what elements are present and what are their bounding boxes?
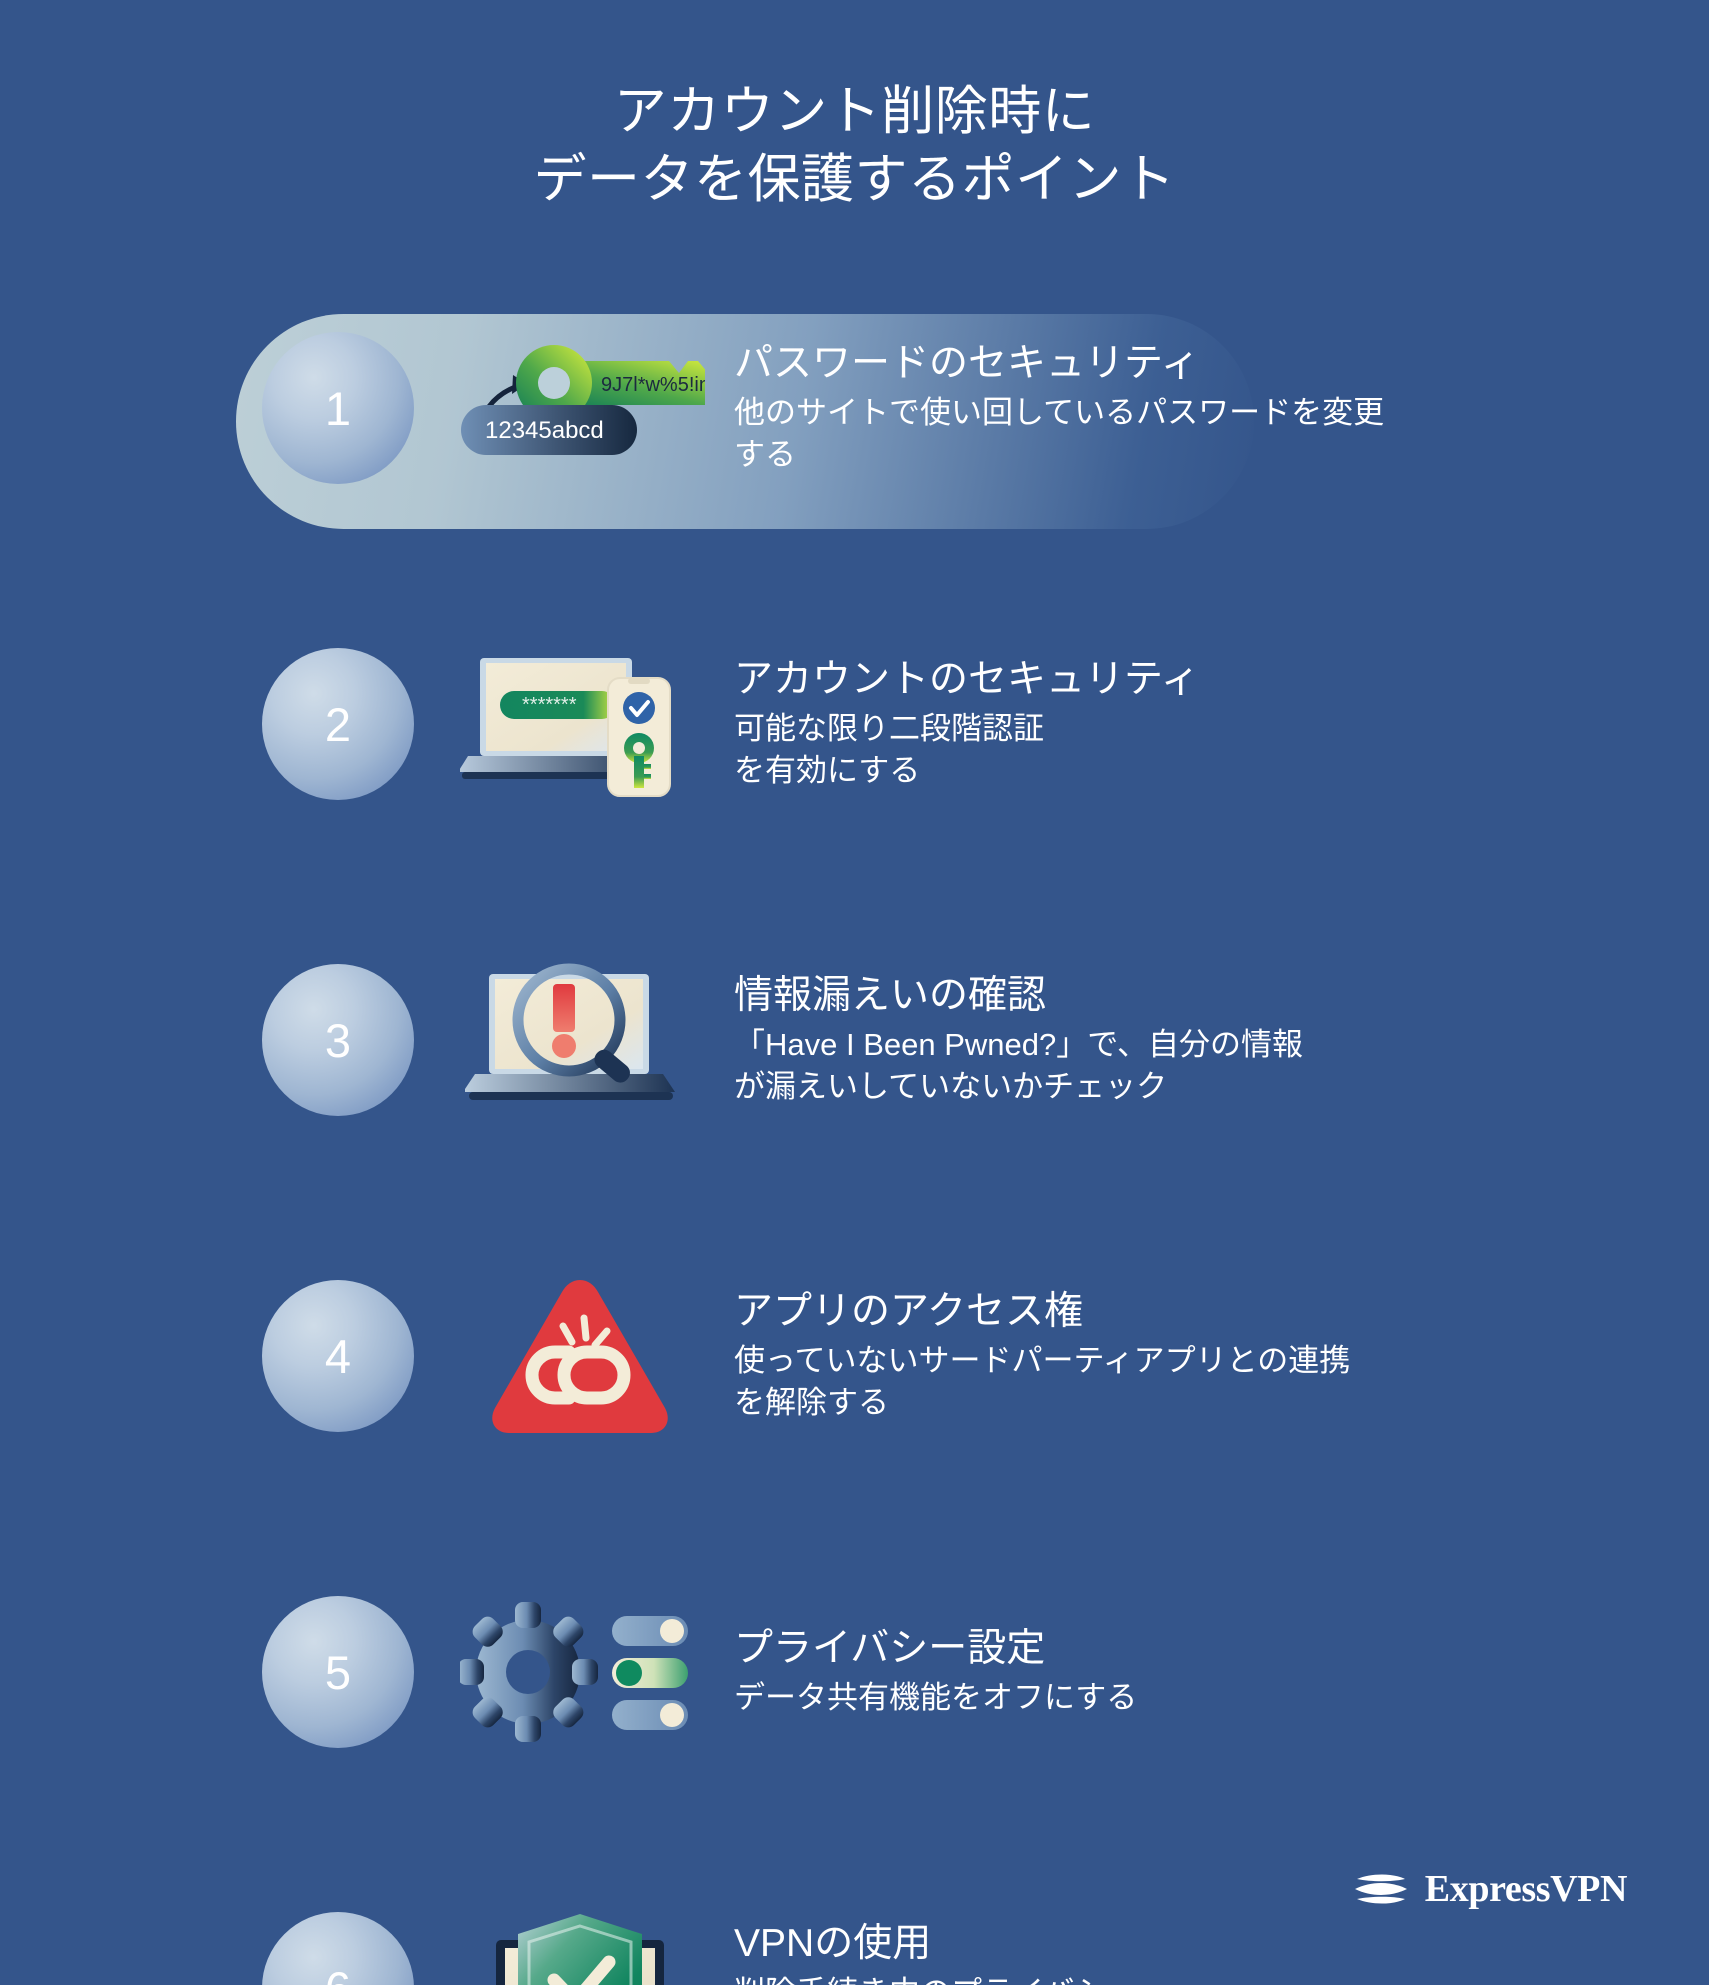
list-item: 1 [0, 300, 1709, 516]
list-item: 5 [0, 1564, 1709, 1780]
step-number-badge: 4 [262, 1280, 414, 1432]
list-item-text: アカウントのセキュリティ 可能な限り二段階認証 を有効にする [720, 656, 1709, 792]
key-password-icon: 9J7l*w%5!inQ 12345abcd [440, 308, 720, 508]
list-item-title: パスワードのセキュリティ [734, 340, 1669, 388]
step-number-badge: 3 [262, 964, 414, 1116]
step-number-badge: 5 [262, 1596, 414, 1748]
list-item-text: パスワードのセキュリティ 他のサイトで使い回しているパスワードを変更 する [720, 340, 1709, 476]
list-item-description: 削除手続き中のプライバシ ーを保護する [734, 1972, 1604, 1985]
vpn-shield-icon [440, 1888, 720, 1985]
list-item-description: 可能な限り二段階認証 を有効にする [734, 708, 1604, 792]
list-item: 3 [0, 932, 1709, 1148]
list-item: 2 [0, 616, 1709, 832]
page-title: アカウント削除時に データを保護するポイント [0, 78, 1709, 214]
step-number-badge: 2 [262, 648, 414, 800]
list-item-description: 使っていないサードパーティアプリとの連携 を解除する [734, 1340, 1604, 1424]
list-item-title: アカウントのセキュリティ [734, 656, 1669, 704]
masked-password-label: ******* [522, 694, 577, 716]
expressvpn-logo-icon [1349, 1865, 1411, 1913]
list-item-description: 「Have I Been Pwned?」で、自分の情報 が漏えいしていないかチェ… [734, 1024, 1604, 1108]
list-item-text: プライバシー設定 データ共有機能をオフにする [720, 1625, 1709, 1719]
step-number-badge: 1 [262, 332, 414, 484]
toggle-off-top [612, 1616, 688, 1646]
weak-password-label: 12345abcd [485, 417, 604, 444]
list-item-text: VPNの使用 削除手続き中のプライバシ ーを保護する [720, 1920, 1709, 1985]
breach-search-icon [440, 940, 720, 1140]
list-item-title: プライバシー設定 [734, 1625, 1669, 1673]
list-item-description: 他のサイトで使い回しているパスワードを変更 する [734, 392, 1604, 476]
strong-password-label: 9J7l*w%5!inQ [601, 374, 705, 396]
list-item-title: 情報漏えいの確認 [734, 972, 1669, 1020]
list-item: 4 アプリのアクセス権 使っていないサードパーティアプリとの連携 を解除する [0, 1248, 1709, 1464]
infographic-page: アカウント削除時に データを保護するポイント 1 [0, 0, 1709, 1985]
list-item-text: アプリのアクセス権 使っていないサードパーティアプリとの連携 を解除する [720, 1288, 1709, 1424]
list-item-title: VPNの使用 [734, 1920, 1669, 1968]
title-line-2: データを保護するポイント [0, 146, 1709, 214]
step-number-badge: 6 [262, 1912, 414, 1985]
list-item-text: 情報漏えいの確認 「Have I Been Pwned?」で、自分の情報 が漏え… [720, 972, 1709, 1108]
tips-list: 1 [0, 300, 1709, 1985]
settings-toggles-icon [440, 1572, 720, 1772]
broken-link-warning-icon [440, 1256, 720, 1456]
list-item-title: アプリのアクセス権 [734, 1288, 1669, 1336]
title-line-1: アカウント削除時に [0, 78, 1709, 146]
toggle-on-middle [612, 1658, 688, 1688]
toggle-off-bottom [612, 1700, 688, 1730]
list-item-description: データ共有機能をオフにする [734, 1677, 1604, 1719]
two-factor-auth-icon: ******* [440, 624, 720, 824]
expressvpn-logo: ExpressVPN [1349, 1865, 1627, 1913]
brand-name: ExpressVPN [1425, 1867, 1627, 1911]
